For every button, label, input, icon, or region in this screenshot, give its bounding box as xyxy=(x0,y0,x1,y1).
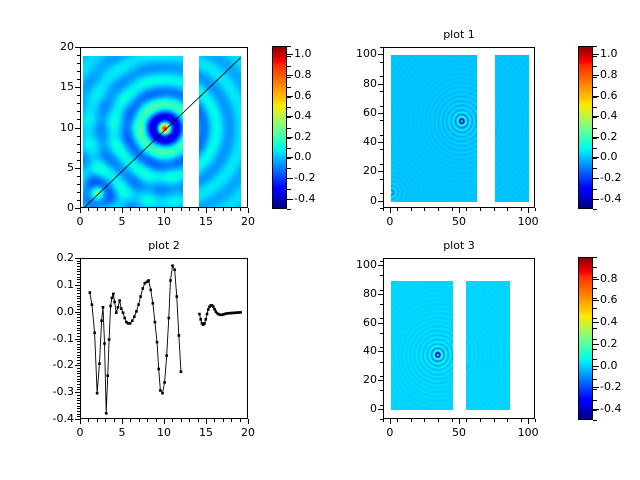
panel-bottom-right-ytick-minor xyxy=(380,333,383,334)
panel-bottom-right-xtick-minor xyxy=(411,419,412,422)
panel-bottom-right-colorbar-label: -0.2 xyxy=(600,380,621,393)
panel-bottom-right-xtick-minor xyxy=(383,419,384,422)
panel-bottom-right-colorbar-tick xyxy=(593,366,599,367)
panel-bottom-right-ytick-label: 100 xyxy=(329,258,377,271)
panel-bottom-right-colorbar-tick-minor xyxy=(593,410,597,411)
panel-bottom-right-colorbar-tick-minor xyxy=(593,277,597,278)
panel-bottom-right-ytick-minor xyxy=(380,347,383,348)
panel-bottom-right-colorbar-tick-minor xyxy=(593,257,597,258)
panel-bottom-right-ytick-minor xyxy=(380,405,383,406)
panel-bottom-right-colorbar-tick-minor xyxy=(593,298,597,299)
panel-bottom-right-xtick-minor xyxy=(480,419,481,422)
panel-bottom-right-ytick-label: 60 xyxy=(329,316,377,329)
panel-bottom-right-xtick-minor xyxy=(521,419,522,422)
panel-bottom-right-colorbar-label: 0.6 xyxy=(600,293,618,306)
panel-bottom-right-image-block xyxy=(391,281,453,410)
panel-bottom-right-ytick xyxy=(378,294,383,295)
panel-bottom-right-ytick-minor xyxy=(380,362,383,363)
panel-bottom-right-colorbar-label: 0.0 xyxy=(600,359,618,372)
panel-bottom-right-xtick-minor xyxy=(397,419,398,422)
panel-bottom-right-ytick xyxy=(378,265,383,266)
panel-bottom-right-ytick xyxy=(378,323,383,324)
panel-bottom-right-xtick-minor xyxy=(452,419,453,422)
panel-bottom-right-xtick xyxy=(459,419,460,424)
panel-bottom-right-colorbar-tick-minor xyxy=(593,318,597,319)
panel-bottom-right-colorbar-label: 0.4 xyxy=(600,315,618,328)
panel-bottom-right-title: plot 3 xyxy=(383,239,535,252)
panel-bottom-right-colorbar-gradient xyxy=(579,258,592,419)
panel-bottom-right-ytick xyxy=(378,409,383,410)
panel-bottom-right-colorbar-tick-minor xyxy=(593,389,597,390)
panel-bottom-right-ytick-minor xyxy=(380,290,383,291)
panel-bottom-right-xtick-minor xyxy=(438,419,439,422)
panel-bottom-right-colorbar-tick-minor xyxy=(593,359,597,360)
panel-bottom-right-xtick xyxy=(390,419,391,424)
panel-bottom-right-colorbar-tick xyxy=(593,279,599,280)
panel-bottom-right-heatmap xyxy=(391,281,453,410)
panel-bottom-right-image-block xyxy=(466,281,510,410)
panel-bottom-right-colorbar-tick xyxy=(593,387,599,388)
panel-bottom-right-colorbar-label: 0.2 xyxy=(600,337,618,350)
panel-bottom-right-ytick-minor xyxy=(380,261,383,262)
panel-bottom-right-ytick-label: 80 xyxy=(329,287,377,300)
panel-bottom-right-colorbar-tick-minor xyxy=(593,420,597,421)
panel-bottom-right-ytick-label: 20 xyxy=(329,373,377,386)
panel-bottom-right-xtick-minor xyxy=(535,419,536,422)
panel-bottom-right-colorbar-tick-minor xyxy=(593,267,597,268)
panel-bottom-right-ytick xyxy=(378,380,383,381)
panel-bottom-right-colorbar-tick xyxy=(593,344,599,345)
panel-bottom-right-xtick xyxy=(528,419,529,424)
panel-bottom-right-ytick-minor xyxy=(380,304,383,305)
panel-bottom-right-xtick-minor xyxy=(466,419,467,422)
panel-bottom-right-xtick-minor xyxy=(507,419,508,422)
panel-bottom-right-colorbar-tick-minor xyxy=(593,308,597,309)
panel-bottom-right-heatmap xyxy=(466,281,510,410)
panel-bottom-right-ytick-minor xyxy=(380,376,383,377)
panel-bottom-right: plot 30501000204060801000.80.60.40.20.0-… xyxy=(0,0,640,480)
panel-bottom-right-xtick-minor xyxy=(494,419,495,422)
panel-bottom-right-xtick-minor xyxy=(424,419,425,422)
panel-bottom-right-colorbar-tick-minor xyxy=(593,288,597,289)
panel-bottom-right-colorbar-tick-minor xyxy=(593,369,597,370)
panel-bottom-right-colorbar-tick-minor xyxy=(593,339,597,340)
panel-bottom-right-xtick-label: 50 xyxy=(439,426,479,439)
panel-bottom-right-colorbar-tick-minor xyxy=(593,349,597,350)
panel-bottom-right-colorbar-tick-minor xyxy=(593,379,597,380)
panel-bottom-right-ytick-minor xyxy=(380,275,383,276)
panel-bottom-right-colorbar-tick-minor xyxy=(593,328,597,329)
panel-bottom-right-colorbar xyxy=(578,257,593,420)
panel-bottom-right-ytick-label: 0 xyxy=(329,402,377,415)
panel-bottom-right-colorbar-tick xyxy=(593,300,599,301)
panel-bottom-right-ytick-label: 40 xyxy=(329,344,377,357)
panel-bottom-right-colorbar-tick-minor xyxy=(593,400,597,401)
panel-bottom-right-ytick xyxy=(378,351,383,352)
figure-canvas: 05101520051015201.00.80.60.40.20.0-0.2-0… xyxy=(0,0,640,480)
panel-bottom-right-colorbar-label: 0.8 xyxy=(600,272,618,285)
panel-bottom-right-ytick-minor xyxy=(380,390,383,391)
panel-bottom-right-colorbar-label: -0.4 xyxy=(600,402,621,415)
panel-bottom-right-ytick-minor xyxy=(380,318,383,319)
panel-bottom-right-colorbar-tick xyxy=(593,322,599,323)
panel-bottom-right-xtick-label: 100 xyxy=(508,426,548,439)
panel-bottom-right-xtick-label: 0 xyxy=(370,426,410,439)
panel-bottom-right-axes-frame xyxy=(383,258,535,419)
panel-bottom-right-ytick-minor xyxy=(380,419,383,420)
